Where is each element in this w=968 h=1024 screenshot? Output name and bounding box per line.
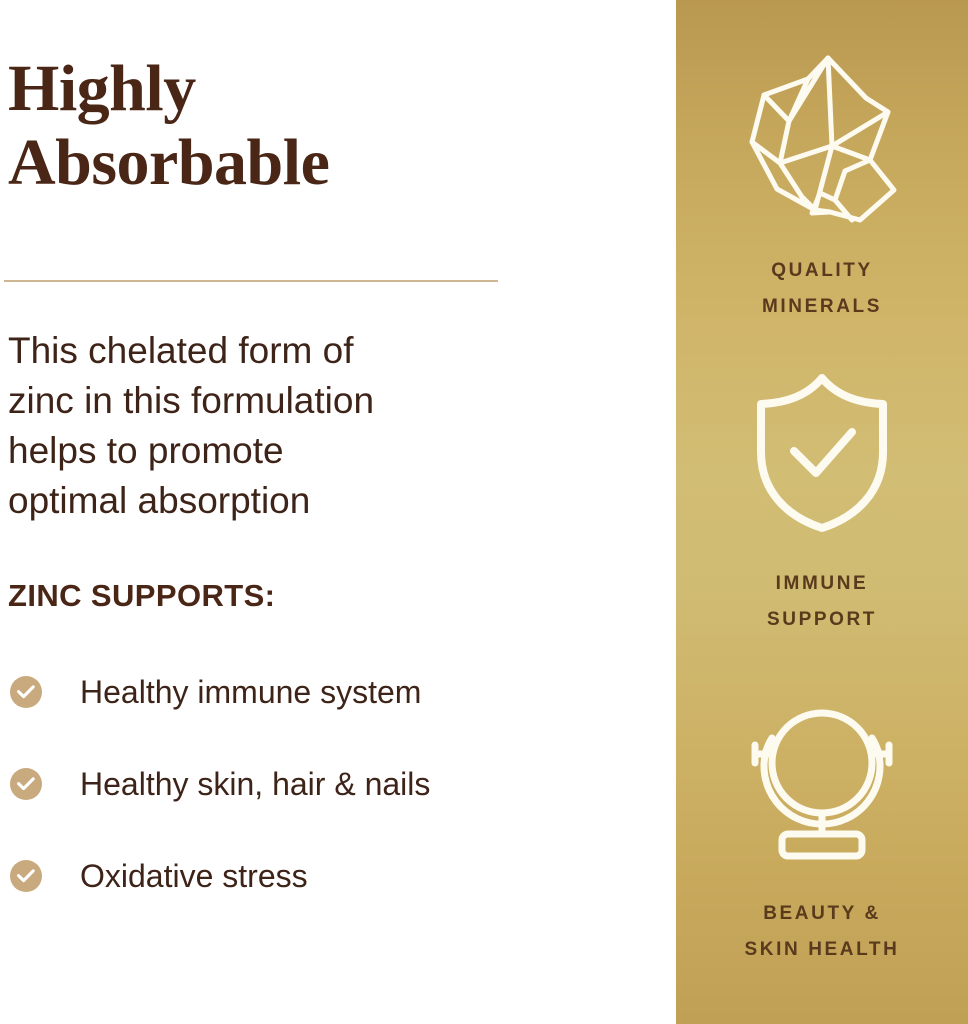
feature-label-beauty-skin-health: BEAUTY & SKIN HEALTH — [676, 896, 968, 968]
benefit-label: Healthy immune system — [80, 660, 630, 724]
feature-quality-minerals: QUALITY MINERALS — [676, 50, 968, 325]
list-item: Healthy skin, hair & nails — [10, 752, 630, 844]
benefit-label: Oxidative stress — [80, 844, 630, 908]
list-item: Oxidative stress — [10, 844, 630, 936]
description-line-4: optimal absorption — [8, 476, 528, 526]
description-line-1: This chelated form of — [8, 326, 528, 376]
feature-label-line-1: QUALITY — [676, 253, 968, 289]
check-icon — [10, 860, 42, 892]
feature-label-quality-minerals: QUALITY MINERALS — [676, 253, 968, 325]
vanity-mirror-icon — [742, 694, 902, 864]
shield-check-icon — [752, 372, 892, 534]
feature-beauty-skin-health: BEAUTY & SKIN HEALTH — [676, 694, 968, 968]
check-icon — [10, 768, 42, 800]
description-paragraph: This chelated form of zinc in this formu… — [8, 326, 528, 526]
feature-immune-support: IMMUNE SUPPORT — [676, 372, 968, 638]
feature-label-immune-support: IMMUNE SUPPORT — [676, 566, 968, 638]
feature-label-line-1: IMMUNE — [676, 566, 968, 602]
benefit-list: Healthy immune system Healthy skin, hair… — [10, 660, 630, 936]
supports-heading: ZINC SUPPORTS: — [8, 578, 275, 614]
left-content-panel: Highly Absorbable This chelated form of … — [0, 0, 676, 1024]
description-line-3: helps to promote — [8, 426, 528, 476]
feature-sidebar: QUALITY MINERALS IMMUNE SUPPORT — [676, 0, 968, 1024]
mineral-crystal-icon — [742, 50, 902, 225]
description-line-2: zinc in this formulation — [8, 376, 528, 426]
page-title: Highly Absorbable — [8, 52, 608, 200]
promo-panel: Highly Absorbable This chelated form of … — [0, 0, 968, 1024]
feature-label-line-1: BEAUTY & — [676, 896, 968, 932]
benefit-label: Healthy skin, hair & nails — [80, 752, 630, 816]
list-item: Healthy immune system — [10, 660, 630, 752]
feature-label-line-2: SKIN HEALTH — [676, 932, 968, 968]
headline-line-1: Highly — [8, 52, 608, 126]
headline-divider — [4, 280, 498, 282]
check-icon — [10, 676, 42, 708]
feature-label-line-2: MINERALS — [676, 289, 968, 325]
feature-label-line-2: SUPPORT — [676, 602, 968, 638]
headline-line-2: Absorbable — [8, 126, 608, 200]
